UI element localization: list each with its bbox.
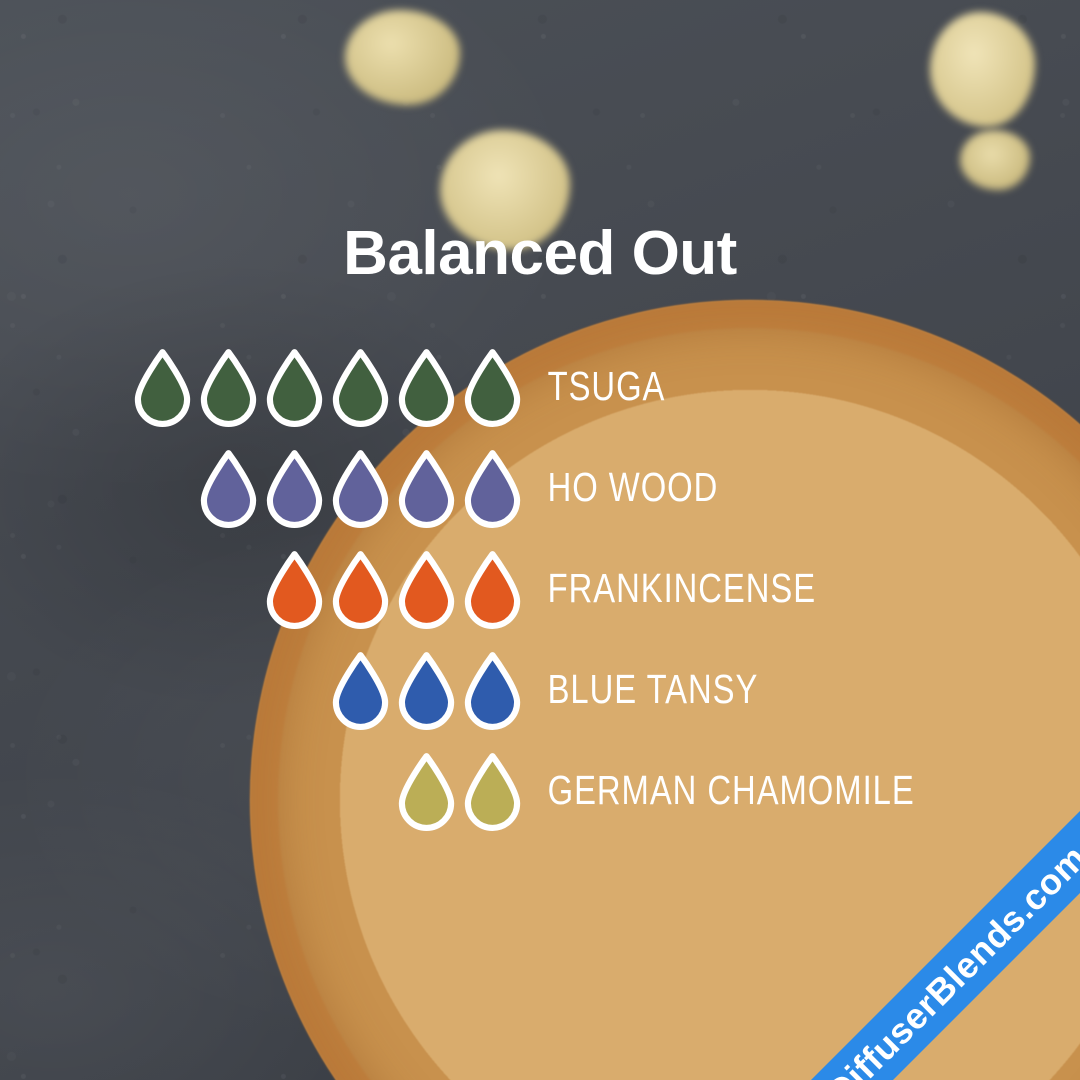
blend-card: Balanced Out TSUGAHO WOODFRANKINCENSEBLU…	[0, 0, 1080, 1080]
page-title: Balanced Out	[0, 218, 1080, 289]
oil-drop-icon	[459, 346, 526, 428]
oil-drop-icon	[195, 346, 262, 428]
drop-count-group	[0, 750, 530, 832]
recipe-row: TSUGA	[0, 336, 1080, 437]
oil-drop-icon	[459, 548, 526, 630]
drop-count-group	[0, 649, 530, 731]
drop-count-group	[0, 447, 530, 529]
oil-drop-icon	[327, 548, 394, 630]
drop-count-group	[0, 346, 530, 428]
oil-drop-icon	[195, 447, 262, 529]
oil-drop-icon	[393, 548, 460, 630]
oil-drop-icon	[393, 346, 460, 428]
watermark-label: DiffuserBlends.com	[819, 837, 1080, 1080]
oil-name-label: BLUE TANSY	[530, 669, 758, 710]
recipe-list: TSUGAHO WOODFRANKINCENSEBLUE TANSYGERMAN…	[0, 336, 1080, 841]
oil-drop-icon	[327, 649, 394, 731]
oil-name-label: TSUGA	[530, 366, 665, 407]
oil-drop-icon	[327, 447, 394, 529]
oil-drop-icon	[393, 447, 460, 529]
recipe-row: FRANKINCENSE	[0, 538, 1080, 639]
oil-name-label: HO WOOD	[530, 467, 718, 508]
drop-count-group	[0, 548, 530, 630]
card-content: Balanced Out TSUGAHO WOODFRANKINCENSEBLU…	[0, 0, 1080, 1080]
oil-drop-icon	[261, 548, 328, 630]
recipe-row: GERMAN CHAMOMILE	[0, 740, 1080, 841]
oil-drop-icon	[459, 649, 526, 731]
recipe-row: HO WOOD	[0, 437, 1080, 538]
oil-drop-icon	[261, 346, 328, 428]
oil-drop-icon	[393, 649, 460, 731]
watermark-banner: DiffuserBlends.com	[784, 802, 1080, 1080]
recipe-row: BLUE TANSY	[0, 639, 1080, 740]
oil-drop-icon	[393, 750, 460, 832]
oil-name-label: GERMAN CHAMOMILE	[530, 770, 915, 811]
oil-drop-icon	[327, 346, 394, 428]
oil-drop-icon	[129, 346, 196, 428]
oil-drop-icon	[459, 750, 526, 832]
oil-drop-icon	[459, 447, 526, 529]
oil-name-label: FRANKINCENSE	[530, 568, 816, 609]
oil-drop-icon	[261, 447, 328, 529]
